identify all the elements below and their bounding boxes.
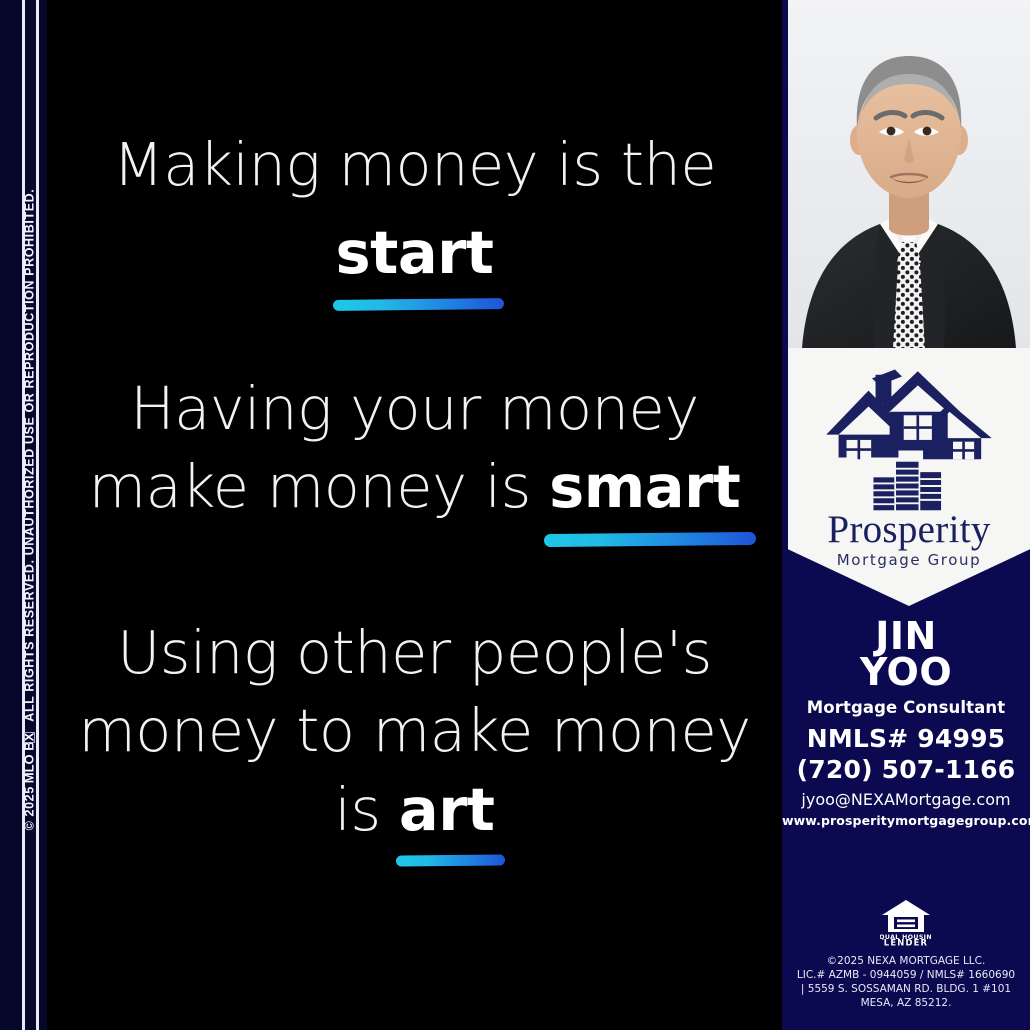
agent-last-name: YOO [782,654,1030,690]
quote-line-2a: Having your money [47,370,782,448]
quote-keyword-smart: smart [549,452,740,521]
watermark-rail: © 2025 MLO BX ALL RIGHTS RESERVED. UNAUT… [0,0,47,1030]
mlobox-x-icon: X [22,733,37,742]
legal-line-3: | 5559 S. SOSSAMAN RD. BLDG. 1 #101 [782,983,1030,997]
quote-block-2: Having your money make money is smart [47,370,782,527]
underline-swoosh-icon [332,298,503,311]
social-graphic-card: © 2025 MLO BX ALL RIGHTS RESERVED. UNAUT… [0,0,1030,1030]
quote-line-3c: is art [47,771,782,849]
quote-text-3c: is [334,775,398,844]
underline-swoosh-icon [396,855,505,867]
watermark-text: © 2025 MLO BX ALL RIGHTS RESERVED. UNAUT… [6,0,48,1025]
quote-block-1: Making money is the start [47,126,782,293]
mlobox-logo: MLO BX [22,733,37,784]
agent-first-name: JIN [782,618,1030,654]
quote-keyword-art: art [399,775,495,844]
agent-phone[interactable]: (720) 507-1166 [782,755,1030,784]
contact-block: JIN YOO Mortgage Consultant NMLS# 94995 … [782,618,1030,828]
equal-housing-lender-icon: EQUAL HOUSING LENDER [880,898,932,946]
quote-line-3a: Using other people's [47,614,782,692]
quote-line-2b: make money is smart [47,448,782,526]
legal-line-2: LIC.# AZMB - 0944059 / NMLS# 1660690 [782,969,1030,983]
city-bars-icon [870,460,948,512]
watermark-copyright: © 2025 [22,786,36,830]
brand-name: Prosperity [827,510,990,549]
quote-text-2b: make money is [89,452,550,521]
agent-title: Mortgage Consultant [782,698,1030,717]
legal-disclaimer: ©2025 NEXA MORTGAGE LLC. LIC.# AZMB - 09… [782,955,1030,1010]
quote-line-3b: money to make money [47,692,782,770]
legal-line-1: ©2025 NEXA MORTGAGE LLC. [782,955,1030,969]
agent-headshot [788,0,1030,348]
quote-stage: Making money is the start Having your mo… [47,0,782,1030]
keyword-wrap-start: start [336,214,494,292]
quote-line-1b: start [47,214,782,292]
legal-line-4: MESA, AZ 85212. [782,997,1030,1011]
prosperity-logo-plate: Prosperity Mortgage Group [788,348,1030,606]
agent-website[interactable]: www.prosperitymortgagegroup.com [782,813,1030,828]
quote-keyword-start: start [336,218,494,287]
brand-subtitle: Mortgage Group [837,551,981,569]
underline-swoosh-icon [544,532,756,547]
mlobox-label: MLO B [22,741,37,783]
watermark-notice: ALL RIGHTS RESERVED. UNAUTHORIZED USE OR… [22,189,36,722]
svg-text:LENDER: LENDER [884,937,928,946]
agent-panel: Prosperity Mortgage Group JIN YOO Mortga… [782,0,1030,1030]
quote-block-3: Using other people's money to make money… [47,614,782,849]
headshot-illustration [788,0,1030,348]
keyword-wrap-smart: smart [549,448,740,526]
equal-housing-lender-badge: EQUAL HOUSING LENDER [782,898,1030,946]
houses-logo-icon [821,356,997,464]
agent-nmls: NMLS# 94995 [782,724,1030,753]
quote-line-1a: Making money is the [47,126,782,204]
agent-email[interactable]: jyoo@NEXAMortgage.com [782,790,1030,809]
keyword-wrap-art: art [399,771,495,849]
